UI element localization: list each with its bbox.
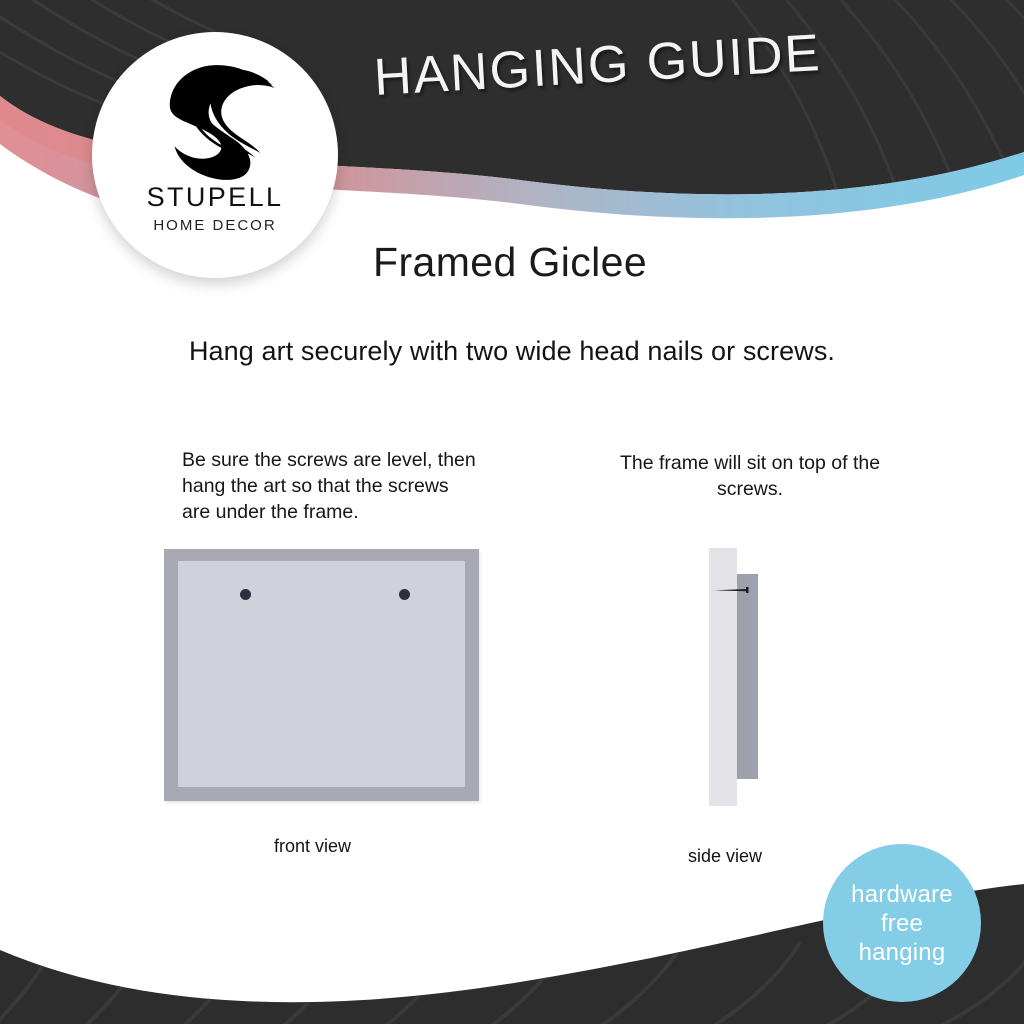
- logo-wordmark: STUPELL: [147, 184, 284, 211]
- hardware-free-hanging-badge: hardware free hanging: [823, 844, 981, 1002]
- hanging-guide-page: STUPELL HOME DECOR HANGING GUIDE Framed …: [0, 0, 1024, 1024]
- badge-line-1: hardware: [851, 880, 953, 909]
- screw-dot-right-icon: [399, 589, 410, 600]
- badge-line-2: free: [881, 909, 923, 938]
- page-title: HANGING GUIDE: [372, 23, 822, 108]
- logo-subwordmark: HOME DECOR: [153, 218, 276, 233]
- side-view-caption: The frame will sit on top of the screws.: [600, 450, 900, 502]
- side-view-label: side view: [688, 846, 762, 867]
- product-type-heading: Framed Giclee: [373, 239, 647, 286]
- front-view-caption: Be sure the screws are level, then hang …: [182, 447, 482, 525]
- side-view-frame: [737, 574, 758, 779]
- front-view-label: front view: [274, 836, 351, 857]
- front-view-mat: [178, 561, 465, 787]
- screw-dot-left-icon: [240, 589, 251, 600]
- front-view-diagram: [164, 549, 479, 801]
- badge-line-3: hanging: [859, 938, 946, 967]
- stupell-logo-badge: STUPELL HOME DECOR: [92, 32, 338, 278]
- side-view-nail-icon: [713, 586, 753, 594]
- stupell-swoosh-s-logo-icon: [149, 54, 281, 182]
- main-instruction-text: Hang art securely with two wide head nai…: [0, 336, 1024, 367]
